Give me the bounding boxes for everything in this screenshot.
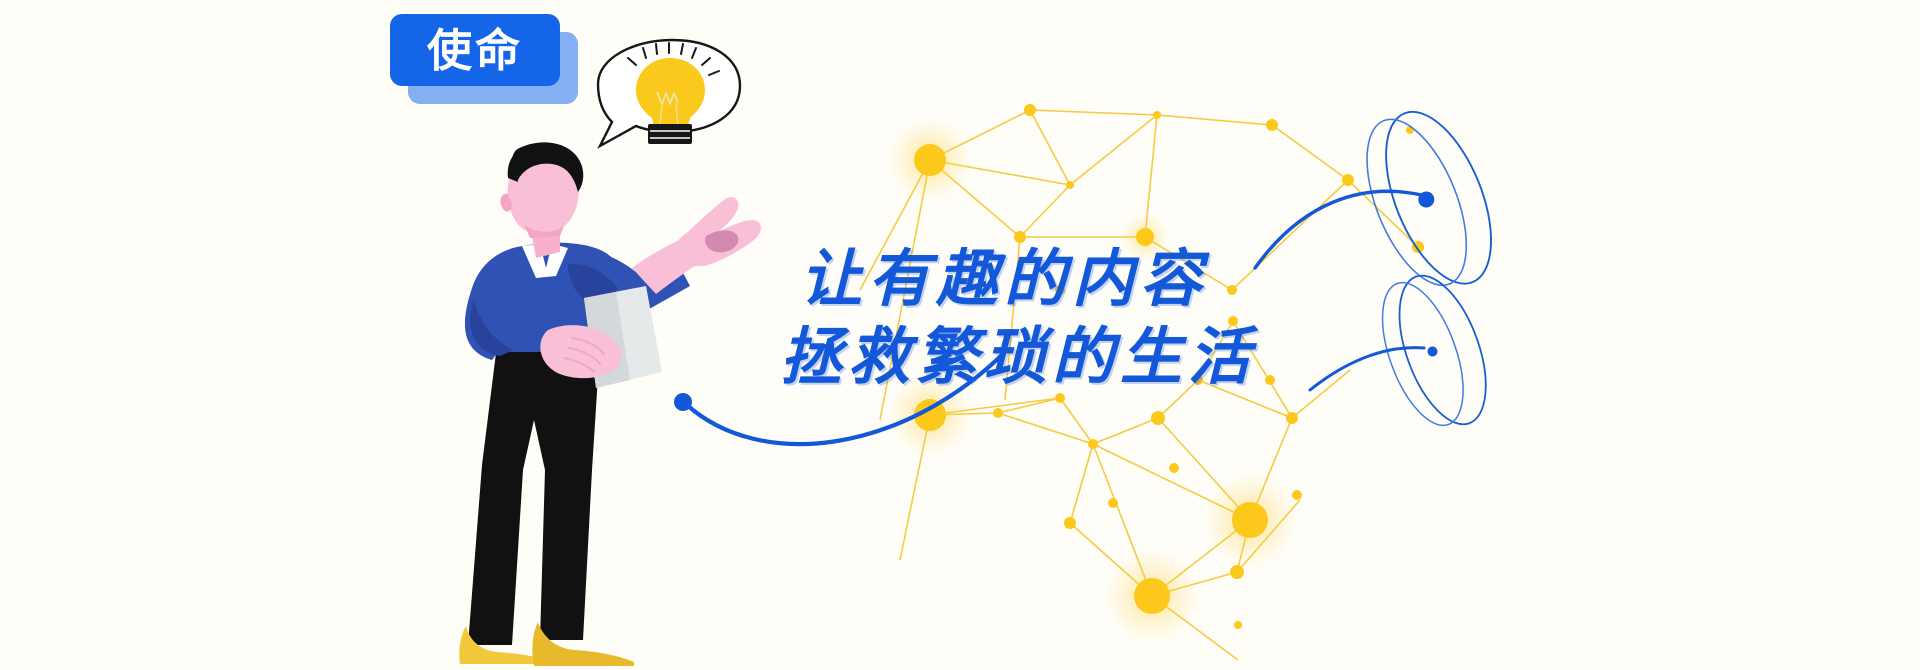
mission-badge[interactable]: 使命 xyxy=(390,14,580,106)
badge-layer: 使命 xyxy=(0,0,1920,670)
badge-front: 使命 xyxy=(390,14,560,86)
badge-label: 使命 xyxy=(427,28,523,73)
mission-banner: 让有趣的内容 拯救繁琐的生活 使命 xyxy=(0,0,1920,670)
